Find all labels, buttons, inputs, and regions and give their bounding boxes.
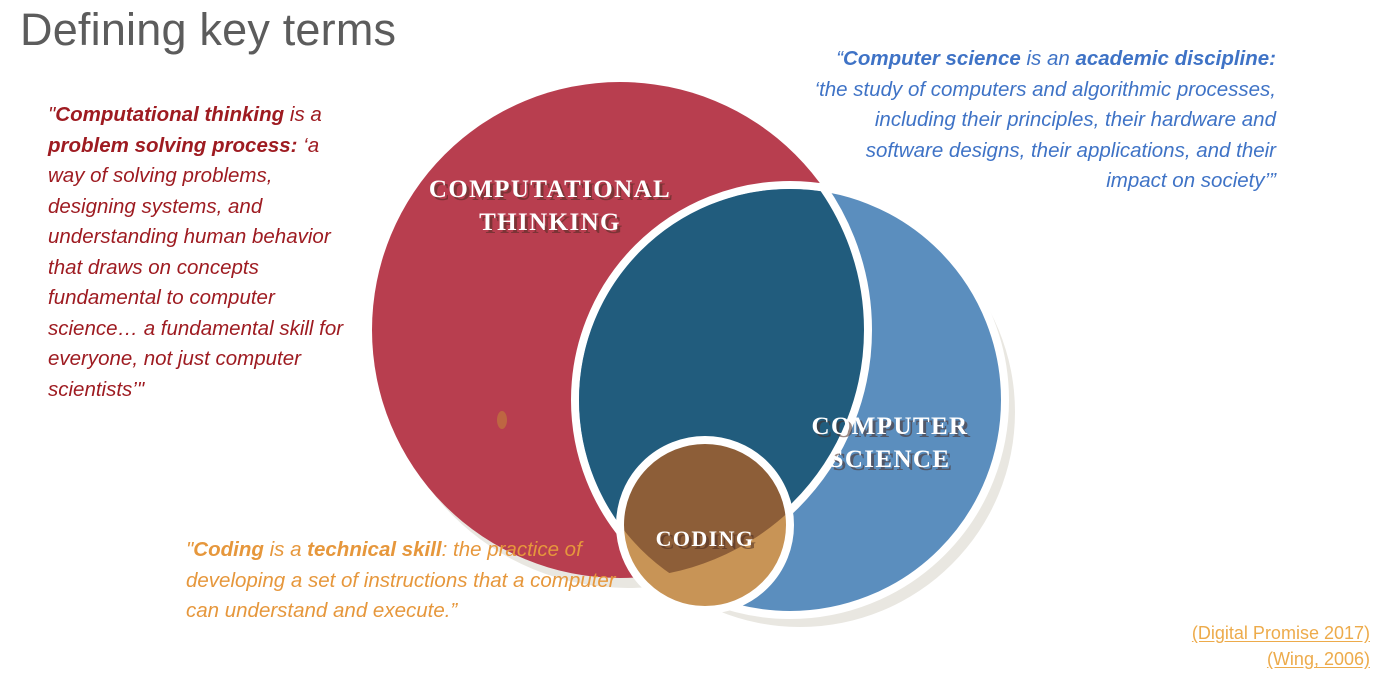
quote-cs-mid: is an: [1021, 47, 1076, 70]
quote-ct-term: Computational thinking: [55, 103, 284, 126]
quote-coding-term: Coding: [193, 538, 264, 561]
page-title: Defining key terms: [20, 2, 396, 58]
quote-ct-phrase: problem solving process:: [48, 134, 297, 157]
quote-cs-phrase: academic discipline:: [1075, 47, 1276, 70]
venn-label-ct-line1: COMPUTATIONAL: [429, 176, 671, 203]
venn-label-cs-line1: COMPUTER: [811, 413, 968, 440]
venn-label-cs-line2: SCIENCE: [830, 446, 951, 473]
quote-coding-phrase: technical skill: [307, 538, 441, 561]
citation-link-digital-promise[interactable]: (Digital Promise 2017): [1192, 620, 1370, 646]
venn-label-coding-text: CODING: [656, 526, 755, 551]
citation-link-wing[interactable]: (Wing, 2006): [1192, 646, 1370, 672]
quote-ct-mid: is a: [284, 103, 322, 126]
quote-cs-term: Computer science: [843, 47, 1021, 70]
quote-cs-body: ‘the study of computers and algorithmic …: [815, 78, 1276, 193]
venn-label-coding: CODING CODING: [656, 526, 758, 554]
citations: (Digital Promise 2017) (Wing, 2006): [1192, 620, 1370, 672]
slide-canvas: Defining key terms: [0, 0, 1384, 676]
venn-label-ct-line2: THINKING: [479, 209, 621, 236]
quote-coding: "Coding is a technical skill: the practi…: [186, 535, 616, 627]
quote-computer-science: “Computer science is an academic discipl…: [808, 44, 1276, 197]
quote-coding-mid: is a: [264, 538, 307, 561]
decorative-fleck: [497, 411, 507, 429]
quote-cs-open: “: [836, 47, 843, 70]
quote-computational-thinking: "Computational thinking is a problem sol…: [48, 100, 348, 405]
quote-ct-body: ‘a way of solving problems, designing sy…: [48, 134, 343, 401]
